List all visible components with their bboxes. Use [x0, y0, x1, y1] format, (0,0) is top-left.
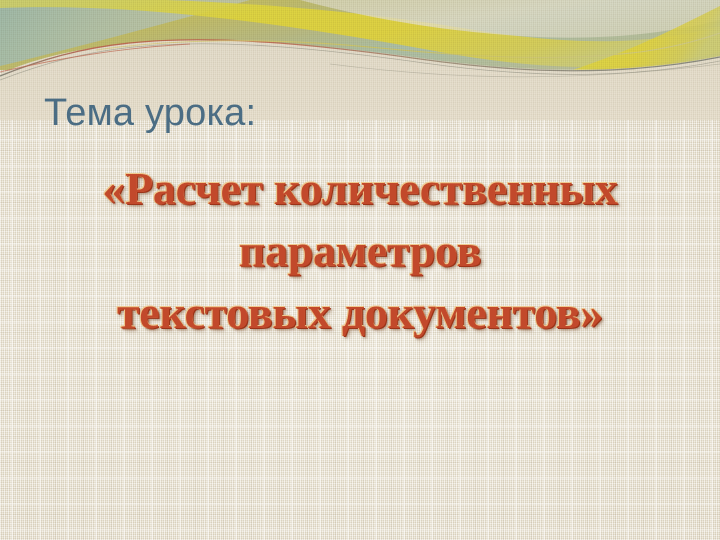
page-title: «Расчет количественных параметров тексто…	[0, 158, 720, 344]
presentation-slide: Тема урока: «Расчет количественных парам…	[0, 0, 720, 540]
title-line-1: «Расчет количественных	[0, 158, 720, 220]
lesson-topic-label: Тема урока:	[44, 94, 256, 132]
title-line-2: параметров	[0, 220, 720, 282]
title-line-3: текстовых документов»	[0, 282, 720, 344]
